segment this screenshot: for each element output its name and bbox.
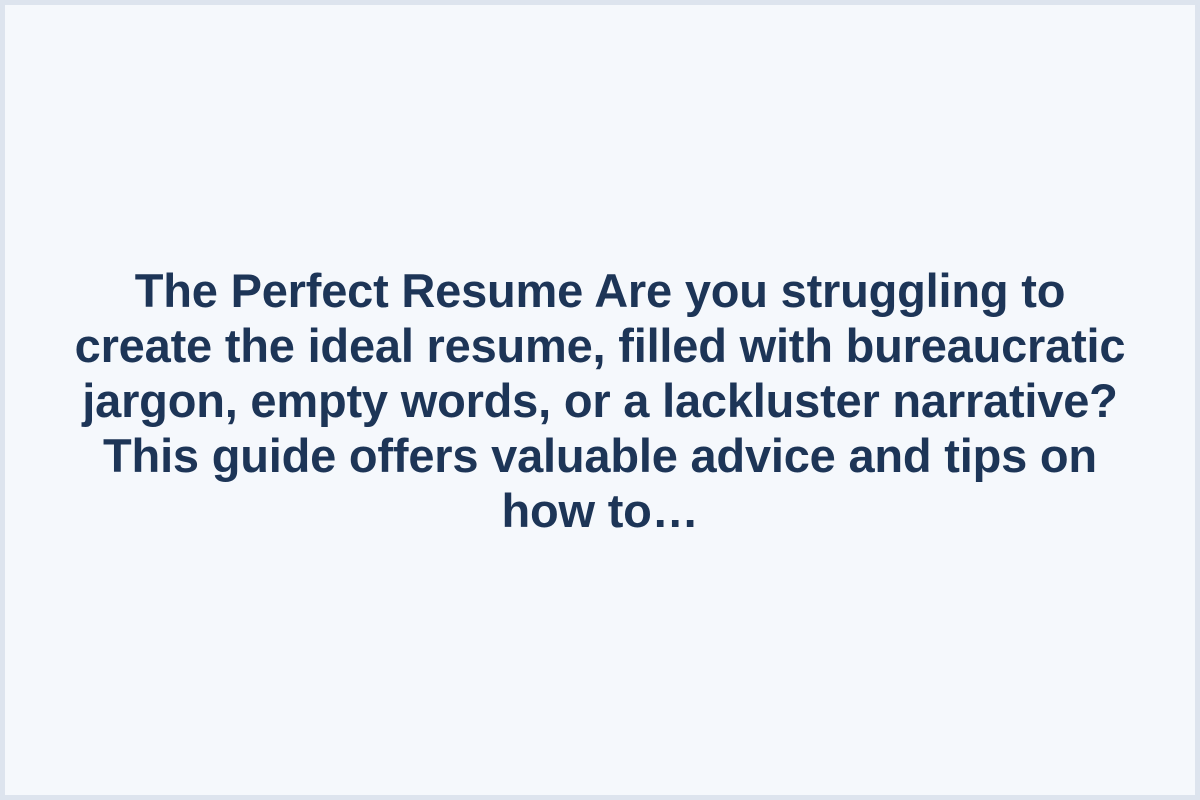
text-card-content: The Perfect Resume Are you struggling to… bbox=[5, 263, 1195, 538]
text-card: The Perfect Resume Are you struggling to… bbox=[0, 0, 1200, 800]
article-excerpt-text: The Perfect Resume Are you struggling to… bbox=[63, 263, 1137, 538]
